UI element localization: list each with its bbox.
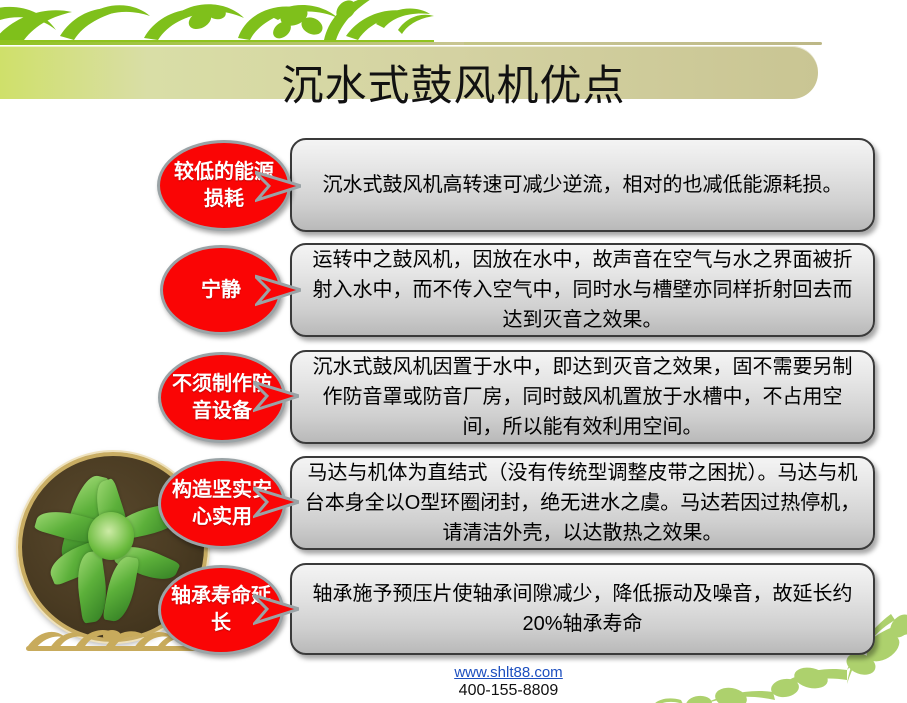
callout-tail-icon [253, 482, 299, 522]
footer-phone-number: 400-155-8809 [0, 682, 907, 700]
callout-tail-icon [255, 166, 301, 206]
advantage-label-text: 宁静 [195, 277, 247, 304]
advantage-description-text: 沉水式鼓风机因置于水中，即达到灭音之效果，固不需要另制作防音罩或防音厂房，同时鼓… [304, 352, 861, 442]
callout-tail-icon [253, 589, 299, 629]
advantage-description-text: 运转中之鼓风机，因放在水中，故声音在空气与水之界面被折射入水中，而不传入空气中，… [304, 245, 861, 335]
advantage-description-text: 轴承施予预压片使轴承间隙减少，降低振动及噪音，故延长约20%轴承寿命 [304, 579, 861, 639]
advantage-description-text: 沉水式鼓风机高转速可减少逆流，相对的也减低能源耗损。 [304, 170, 861, 200]
slide-canvas: 沉水式鼓风机优点 [0, 0, 907, 703]
advantage-description-box: 运转中之鼓风机，因放在水中，故声音在空气与水之界面被折射入水中，而不传入空气中，… [290, 243, 875, 337]
callout-tail-icon [255, 270, 301, 310]
advantage-description-box: 沉水式鼓风机高转速可减少逆流，相对的也减低能源耗损。 [290, 138, 875, 232]
page-title: 沉水式鼓风机优点 [0, 61, 907, 111]
footer-website-link[interactable]: www.shlt88.com [0, 664, 907, 681]
advantage-description-box: 轴承施予预压片使轴承间隙减少，降低振动及噪音，故延长约20%轴承寿命 [290, 563, 875, 655]
advantage-description-box: 马达与机体为直结式（没有传统型调整皮带之困扰）。马达与机台本身全以O型环圈闭封，… [290, 456, 875, 550]
advantage-description-box: 沉水式鼓风机因置于水中，即达到灭音之效果，固不需要另制作防音罩或防音厂房，同时鼓… [290, 350, 875, 444]
header-hairline [0, 42, 822, 45]
callout-tail-icon [253, 376, 299, 416]
footer-website-anchor[interactable]: www.shlt88.com [454, 664, 562, 681]
advantage-description-text: 马达与机体为直结式（没有传统型调整皮带之困扰）。马达与机台本身全以O型环圈闭封，… [304, 458, 861, 548]
